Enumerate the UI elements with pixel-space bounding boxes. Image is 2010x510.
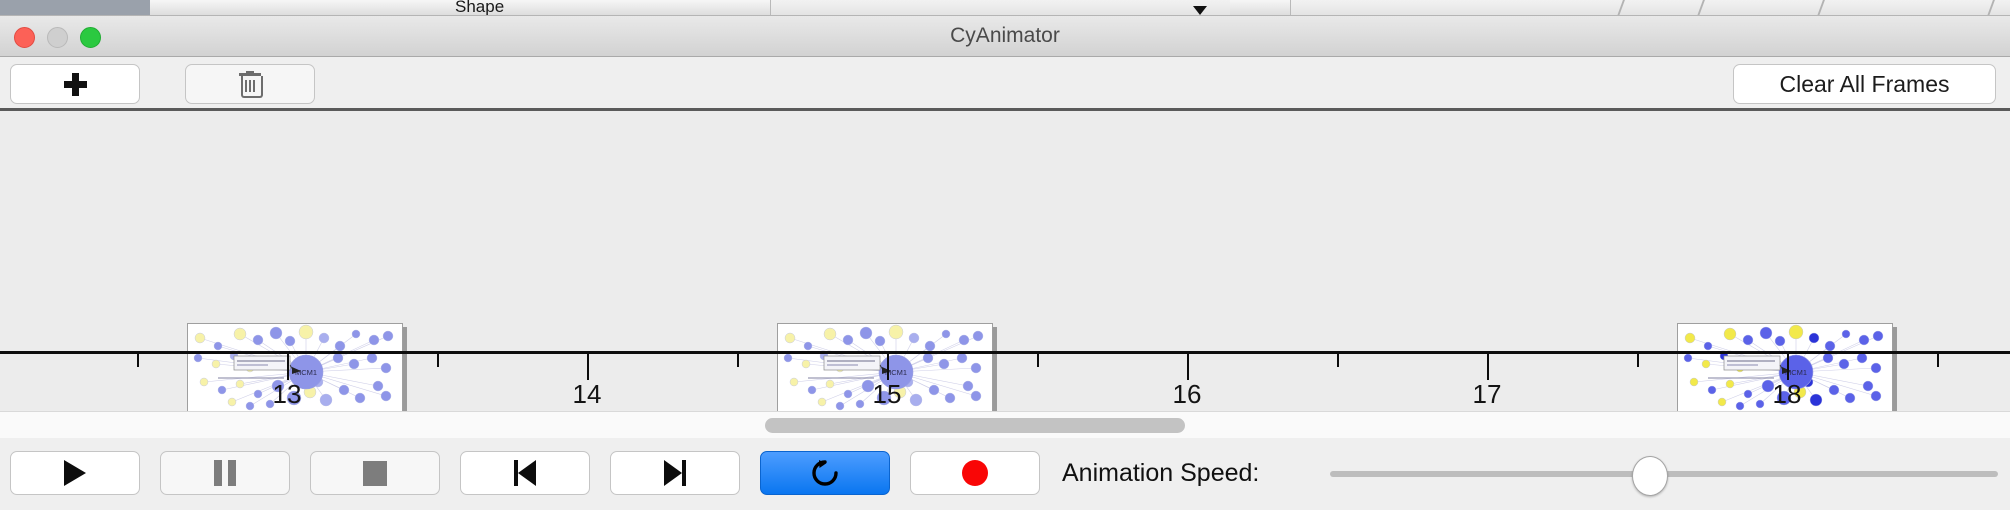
loop-button[interactable] <box>760 451 890 495</box>
stop-icon <box>363 461 387 486</box>
svg-text:MCM1: MCM1 <box>295 368 317 377</box>
bg-segment <box>650 0 771 16</box>
title-bar: CyAnimator <box>0 16 2010 57</box>
bg-segment <box>370 0 451 16</box>
bg-divider <box>1617 0 1625 16</box>
axis-tick-label: 17 <box>1473 379 1502 410</box>
bg-segment <box>570 0 651 16</box>
add-frame-button[interactable] <box>10 64 140 104</box>
timeline-scrollbar[interactable] <box>0 411 2010 439</box>
bg-divider <box>1987 0 1995 16</box>
bg-divider <box>1817 0 1825 16</box>
axis-tick-minor <box>437 354 439 367</box>
axis-tick-minor <box>1937 354 1939 367</box>
plus-icon <box>64 73 87 96</box>
scrollbar-thumb[interactable] <box>765 418 1185 433</box>
skip-forward-icon <box>664 460 686 486</box>
axis-tick-major <box>887 354 889 380</box>
clear-all-frames-button[interactable]: Clear All Frames <box>1733 64 1996 104</box>
axis-tick-minor <box>1337 354 1339 367</box>
axis-tick-minor <box>137 354 139 367</box>
trash-icon <box>239 71 261 97</box>
next-button[interactable] <box>610 451 740 495</box>
axis-tick-minor <box>1037 354 1039 367</box>
pause-icon <box>214 460 236 486</box>
loop-icon <box>810 458 840 488</box>
axis-tick-minor <box>1637 354 1639 367</box>
bg-segment <box>0 0 151 16</box>
axis-tick-label: 13 <box>273 379 302 410</box>
pause-button[interactable] <box>160 451 290 495</box>
axis-tick-major <box>1787 354 1789 380</box>
axis-tick-major <box>1187 354 1189 380</box>
background-window-strip: Shape <box>0 0 2010 16</box>
timeline-panel[interactable]: MCM1MCM1MCM1 2131415161718 Seconds <box>0 111 2010 411</box>
cyanimator-window: Shape CyAnimator Clear All Frames <box>0 0 2010 510</box>
animation-speed-label: Animation Speed: <box>1062 451 1259 495</box>
bg-divider <box>1697 0 1705 16</box>
play-icon <box>64 460 86 486</box>
record-button[interactable] <box>910 451 1040 495</box>
bg-window-label: Shape <box>455 0 504 16</box>
animation-speed-thumb[interactable] <box>1632 456 1668 496</box>
frame-toolbar: Clear All Frames <box>0 57 2010 110</box>
axis-tick-label: 15 <box>873 379 902 410</box>
bg-segment <box>150 0 371 16</box>
timeline-axis <box>0 351 2010 354</box>
window-title: CyAnimator <box>0 16 2010 56</box>
record-icon <box>962 460 988 486</box>
play-button[interactable] <box>10 451 140 495</box>
axis-tick-major <box>1487 354 1489 380</box>
delete-frame-button[interactable] <box>185 64 315 104</box>
axis-tick-minor <box>737 354 739 367</box>
bg-segment <box>1230 0 1291 16</box>
transport-bar: Animation Speed: <box>0 438 2010 510</box>
axis-tick-label: 14 <box>573 379 602 410</box>
caret-down-icon <box>1193 6 1207 15</box>
axis-tick-label: 18 <box>1773 379 1802 410</box>
axis-tick-label: 16 <box>1173 379 1202 410</box>
axis-tick-major <box>287 354 289 380</box>
skip-back-icon <box>514 460 536 486</box>
axis-tick-major <box>587 354 589 380</box>
bg-segment <box>510 0 571 16</box>
previous-button[interactable] <box>460 451 590 495</box>
stop-button[interactable] <box>310 451 440 495</box>
